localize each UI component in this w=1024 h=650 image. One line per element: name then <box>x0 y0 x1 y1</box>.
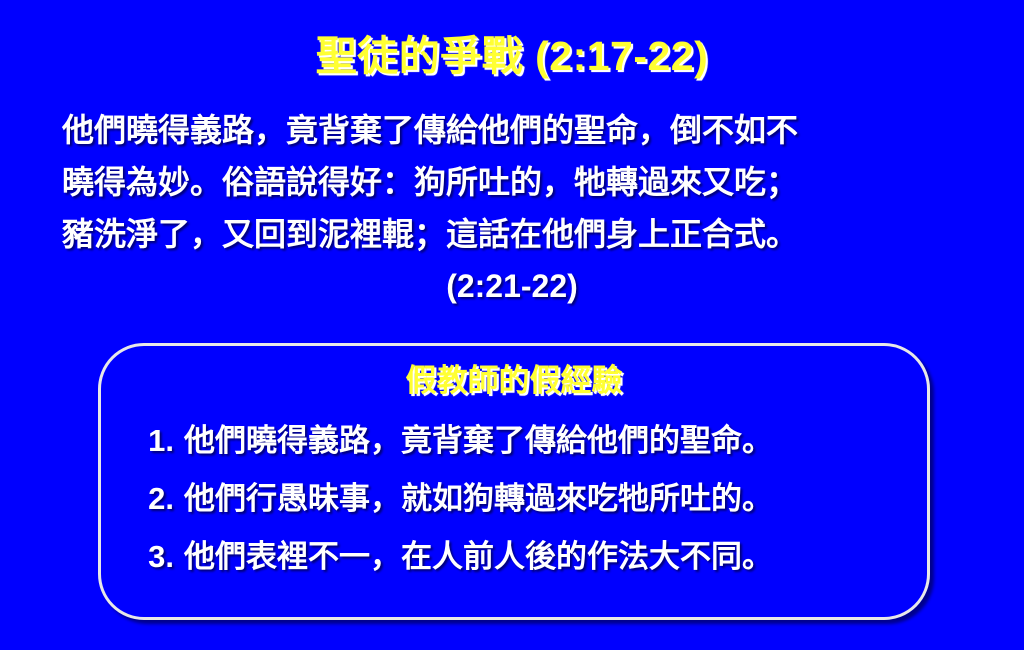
scripture-line-2: 曉得為妙。俗語說得好：狗所吐的，牠轉過來又吃； <box>62 156 962 208</box>
panel-heading: 假教師的假經驗 <box>98 355 930 400</box>
scripture-reference: (2:21-22) <box>62 260 962 312</box>
list-item-number: 3. <box>130 528 174 586</box>
list-item-number: 2. <box>130 470 174 528</box>
presentation-slide: 聖徒的爭戰 (2:17-22) 他們曉得義路，竟背棄了傳給他們的聖命，倒不如不 … <box>0 0 1024 650</box>
list-item-text: 他們曉得義路，竟背棄了傳給他們的聖命。 <box>184 412 773 470</box>
scripture-line-3: 豬洗淨了，又回到泥裡輥；這話在他們身上正合式。 <box>62 208 962 260</box>
list-item-text: 他們行愚昧事，就如狗轉過來吃牠所吐的。 <box>184 470 773 528</box>
slide-title: 聖徒的爭戰 (2:17-22) <box>0 34 1024 79</box>
panel-item-list: 1. 他們曉得義路，竟背棄了傳給他們的聖命。 2. 他們行愚昧事，就如狗轉過來吃… <box>98 412 930 586</box>
list-item-text: 他們表裡不一，在人前人後的作法大不同。 <box>184 528 773 586</box>
list-item: 2. 他們行愚昧事，就如狗轉過來吃牠所吐的。 <box>98 470 930 528</box>
list-item: 3. 他們表裡不一，在人前人後的作法大不同。 <box>98 528 930 586</box>
list-item-number: 1. <box>130 412 174 470</box>
scripture-text-block: 他們曉得義路，竟背棄了傳給他們的聖命，倒不如不 曉得為妙。俗語說得好：狗所吐的，… <box>62 104 962 312</box>
list-item: 1. 他們曉得義路，竟背棄了傳給他們的聖命。 <box>98 412 930 470</box>
scripture-line-1: 他們曉得義路，竟背棄了傳給他們的聖命，倒不如不 <box>62 104 962 156</box>
